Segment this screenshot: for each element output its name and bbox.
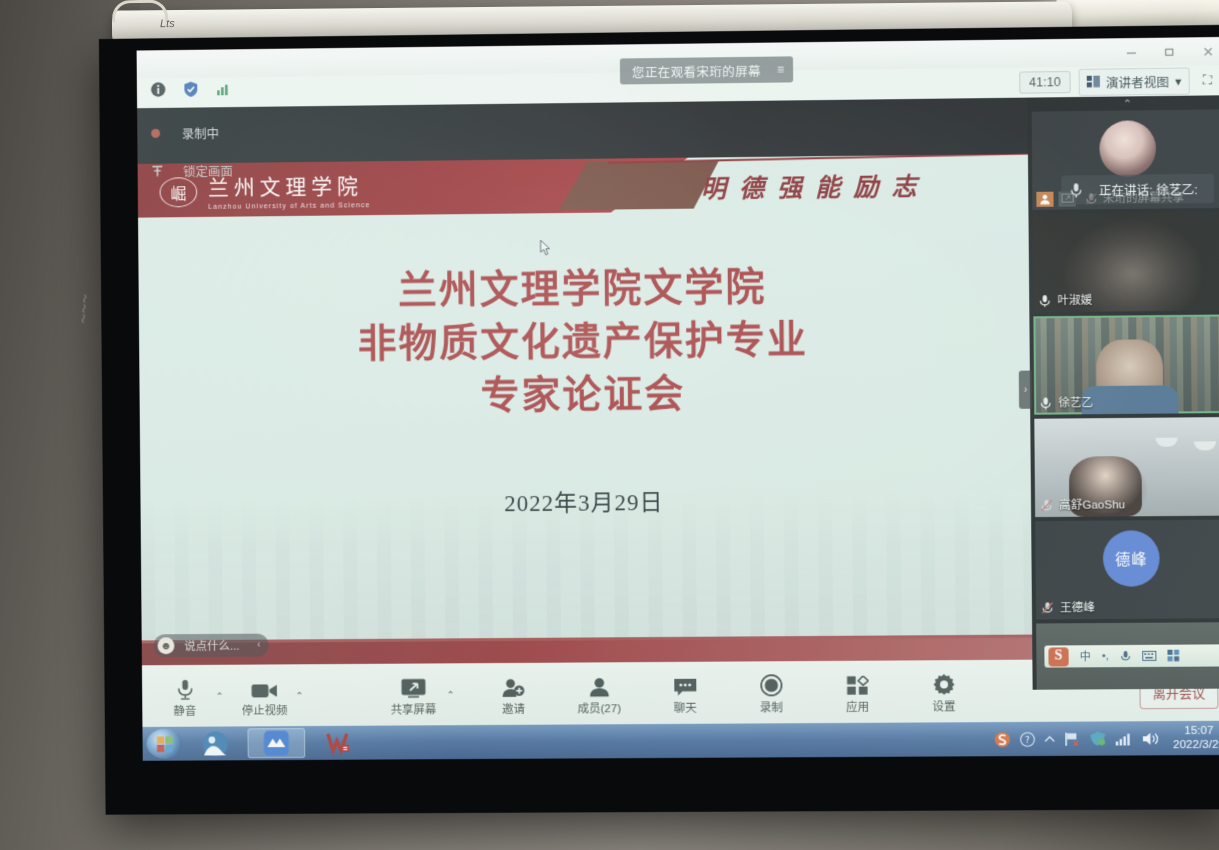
university-motto: 明德强能励志 [701,167,930,206]
settings-label: 设置 [932,698,955,714]
restore-icon[interactable] [1150,38,1189,65]
tile-label: 徐艺乙 [1039,394,1093,411]
emoji-icon[interactable]: ☻ [158,637,175,654]
minimize-icon[interactable] [1112,39,1151,66]
sogou-input-icon[interactable] [994,731,1011,748]
ime-keyboard-icon[interactable] [1142,651,1156,661]
chevron-left-icon[interactable]: ‹ [257,640,260,651]
apps-label: 应用 [846,698,869,714]
university-emblem-icon: 崛 [159,177,197,207]
viewing-banner-text: 您正在观看宋珩的屏幕 [632,60,761,81]
slide-title-line-3: 专家论证会 [139,365,1030,426]
clock-date: 2022/3/29 [1173,738,1219,752]
tile-label: 王德峰 [1041,599,1095,615]
slide-title-line-2: 非物质文化遗产保护专业 [139,311,1030,372]
viewing-screen-banner: 您正在观看宋珩的屏幕 ≡ [620,56,793,84]
quick-chat-input[interactable]: ☻ 说点什么... ‹ [154,634,269,658]
svg-text:?: ? [1025,735,1030,745]
windows-taskbar: ? [142,721,1219,761]
view-controls: 41:10 演讲者视图 ▾ ⛶ [1019,67,1217,96]
recording-label: 录制中 [182,123,219,142]
invite-button[interactable]: 邀请 [486,675,540,716]
host-badge-icon [1036,191,1053,206]
chat-icon [673,674,697,696]
toolbar-left-group: 静音 ⌃ 停止视频 ⌃ [142,677,304,719]
microphone-icon [176,677,193,699]
filmstrip-collapse-handle[interactable]: › [1019,371,1032,409]
mic-icon [1038,294,1051,307]
participant-tile[interactable]: 高舒GaoShu [1034,417,1219,517]
view-mode-dropdown[interactable]: 演讲者视图 ▾ [1079,67,1190,95]
wps-office-app[interactable] [309,728,367,758]
mic-icon [1039,396,1052,409]
tile-label: 叶淑媛 [1038,292,1092,309]
participant-tile[interactable]: S 中 •, [1036,622,1219,690]
camera-icon [251,677,278,699]
taskbar-clock[interactable]: 15:07 2022/3/29 [1169,724,1219,752]
invite-icon [501,675,525,697]
info-icon[interactable] [149,80,168,99]
mouse-cursor [540,239,552,256]
members-icon [588,675,610,697]
shared-powerpoint-slide: 崛 兰州文理学院 Lanzhou University of Arts and … [138,154,1033,673]
record-button[interactable]: 录制 [744,674,798,715]
recording-indicator: 录制中 [151,123,219,143]
windows-start-orb-icon[interactable] [146,729,182,759]
record-label: 录制 [760,699,783,715]
close-icon[interactable] [1188,38,1219,65]
security-shield-icon[interactable] [1089,731,1106,747]
share-options-chevron-icon[interactable]: ⌃ [446,690,454,701]
projection-screen-frame: 您正在观看宋珩的屏幕 ≡ 41:10 [99,25,1219,815]
stop-video-label: 停止视频 [242,702,288,718]
banner-menu-icon[interactable]: ≡ [777,62,783,76]
video-subject-body [1081,385,1178,414]
fullscreen-button[interactable]: ⛶ [1198,70,1217,90]
slide-date: 2022年3月29日 [140,480,1031,521]
ime-punctuation-icon[interactable]: •, [1102,650,1109,662]
participant-tile[interactable]: 徐艺乙 [1033,314,1219,414]
screen-brand-label: Lts [160,18,175,30]
volume-icon[interactable] [1142,731,1160,746]
chat-button[interactable]: 聊天 [658,674,712,715]
tile-name: 徐艺乙 [1058,394,1093,410]
invite-label: 邀请 [502,700,525,716]
share-screen-icon [401,676,426,698]
tile-name: 王德峰 [1060,599,1095,615]
photo-viewer-app[interactable] [186,728,244,758]
active-speaker-toast: 正在讲话: 徐艺乙: [1061,174,1214,205]
share-screen-button[interactable]: 共享屏幕 [386,676,440,717]
system-tray: ? [994,724,1219,753]
sogou-logo-icon: S [1048,647,1068,666]
view-mode-label: 演讲者视图 [1106,71,1169,91]
tile-name: 高舒GaoShu [1059,496,1125,513]
network-bars-icon[interactable] [1115,731,1132,745]
slide-title: 兰州文理学院文学院 非物质文化遗产保护专业 专家论证会 [138,258,1030,425]
meeting-timer: 41:10 [1019,71,1071,94]
clock-time: 15:07 [1173,724,1219,738]
camera-options-chevron-icon[interactable]: ⌃ [295,691,303,702]
stop-video-button[interactable]: 停止视频 [237,677,291,718]
mute-label: 静音 [173,702,196,718]
mute-button[interactable]: 静音 [158,677,212,718]
help-icon[interactable]: ? [1020,731,1035,746]
members-button[interactable]: 成员(27) [572,675,626,716]
shield-icon[interactable] [181,80,200,99]
tile-name: 叶淑媛 [1057,292,1092,308]
share-screen-label: 共享屏幕 [391,701,437,717]
projected-image-area: 您正在观看宋珩的屏幕 ≡ 41:10 [137,37,1219,761]
recording-dot-icon [151,129,160,138]
action-flag-icon[interactable] [1064,731,1080,746]
chat-label: 聊天 [674,699,697,715]
record-icon [760,674,782,696]
apps-icon [846,673,868,695]
pin-icon [151,165,163,178]
microphone-icon [1070,182,1083,198]
avatar: 德峰 [1103,530,1160,587]
settings-gear-icon [933,673,955,695]
ime-voice-icon[interactable] [1120,649,1131,662]
sogou-ime-toolbar[interactable]: S 中 •, [1044,644,1219,667]
tencent-meeting-window: 您正在观看宋珩的屏幕 ≡ 41:10 [137,37,1219,761]
avatar [1099,120,1156,177]
quick-chat-placeholder: 说点什么... [180,637,251,653]
tray-expand-icon[interactable] [1044,734,1055,743]
mic-options-chevron-icon[interactable]: ⌃ [215,691,223,702]
layout-icon [1087,76,1100,88]
participant-tile[interactable]: 叶淑媛 [1033,212,1219,312]
members-label: 成员(27) [578,700,622,716]
ime-mode-label[interactable]: 中 [1080,648,1091,664]
settings-button[interactable]: 设置 [917,673,972,714]
lock-screen-label: 锁定画面 [183,161,233,180]
active-speaker-text: 正在讲话: 徐艺乙: [1099,179,1198,199]
mic-muted-icon [1041,601,1054,614]
ceiling-lamp [1194,441,1216,450]
shared-content-stage: 录制中 锁定画面 崛 [137,98,1033,696]
apps-button[interactable]: 应用 [830,673,885,714]
meeting-status-icons [149,79,233,99]
network-signal-icon[interactable] [214,79,233,98]
tencent-meeting-app[interactable] [247,728,305,758]
mic-muted-icon [1040,498,1053,511]
chevron-down-icon: ▾ [1175,73,1181,88]
participant-tile[interactable]: 德峰 王德峰 [1035,520,1219,620]
toolbar-center-group: 共享屏幕 ⌃ 邀请 成员(27) [386,673,971,718]
tile-label: 高舒GaoShu [1040,496,1125,513]
slide-title-line-1: 兰州文理学院文学院 [138,258,1029,320]
ime-tools-icon[interactable] [1167,650,1179,662]
lock-screen-control[interactable]: 锁定画面 [151,161,232,181]
ceiling-lamp [1155,438,1177,447]
